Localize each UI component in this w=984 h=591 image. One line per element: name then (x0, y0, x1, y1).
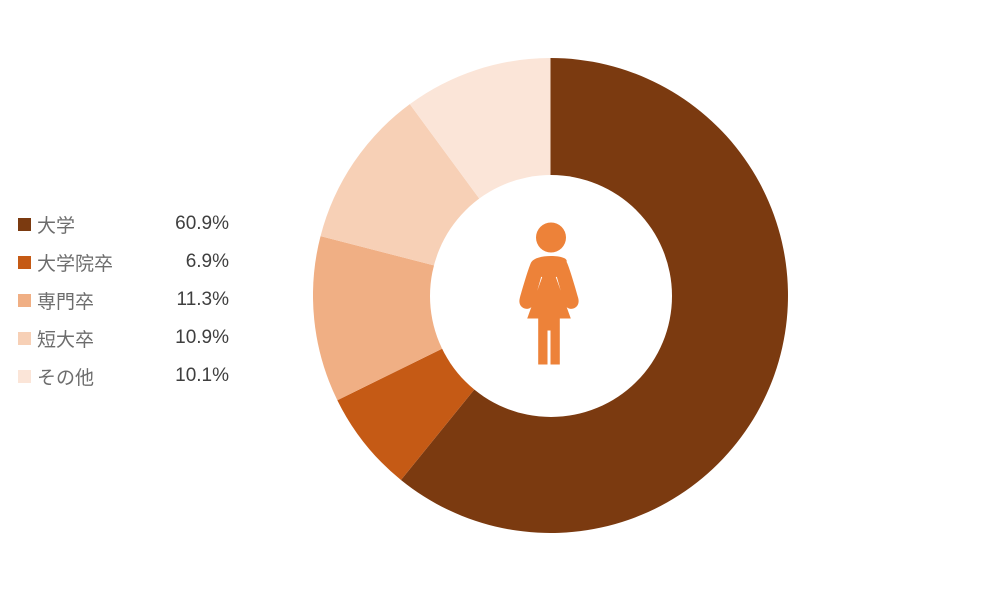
legend-item-label: 大学 (37, 211, 75, 238)
legend-item-value: 6.9% (186, 251, 243, 273)
legend-color-swatch-icon (18, 294, 31, 307)
female-person-icon (512, 221, 590, 371)
legend-color-swatch-icon (18, 370, 31, 383)
legend-item-value: 10.9% (175, 327, 243, 349)
legend-item-label: 大学院卒 (37, 249, 113, 276)
legend-color-swatch-icon (18, 332, 31, 345)
legend-item-value: 11.3% (177, 289, 243, 311)
legend-item-label: 短大卒 (37, 325, 94, 352)
legend-color-swatch-icon (18, 218, 31, 231)
legend-item-1[interactable]: 大学院卒 6.9% (18, 243, 243, 281)
donut-center-hole (430, 175, 672, 417)
legend-item-value: 60.9% (175, 213, 243, 235)
legend-item-4[interactable]: その他 10.1% (18, 357, 243, 395)
legend-item-label: 専門卒 (37, 287, 94, 314)
legend-item-2[interactable]: 専門卒 11.3% (18, 281, 243, 319)
legend-color-swatch-icon (18, 256, 31, 269)
legend-item-value: 10.1% (175, 365, 243, 387)
donut-chart-page: 大学 60.9% 大学院卒 6.9% 専門卒 11.3% 短大卒 10.9% そ… (0, 0, 984, 591)
chart-legend: 大学 60.9% 大学院卒 6.9% 専門卒 11.3% 短大卒 10.9% そ… (18, 205, 243, 395)
legend-item-3[interactable]: 短大卒 10.9% (18, 319, 243, 357)
donut-chart (313, 58, 788, 533)
legend-item-label: その他 (37, 363, 94, 390)
legend-item-0[interactable]: 大学 60.9% (18, 205, 243, 243)
